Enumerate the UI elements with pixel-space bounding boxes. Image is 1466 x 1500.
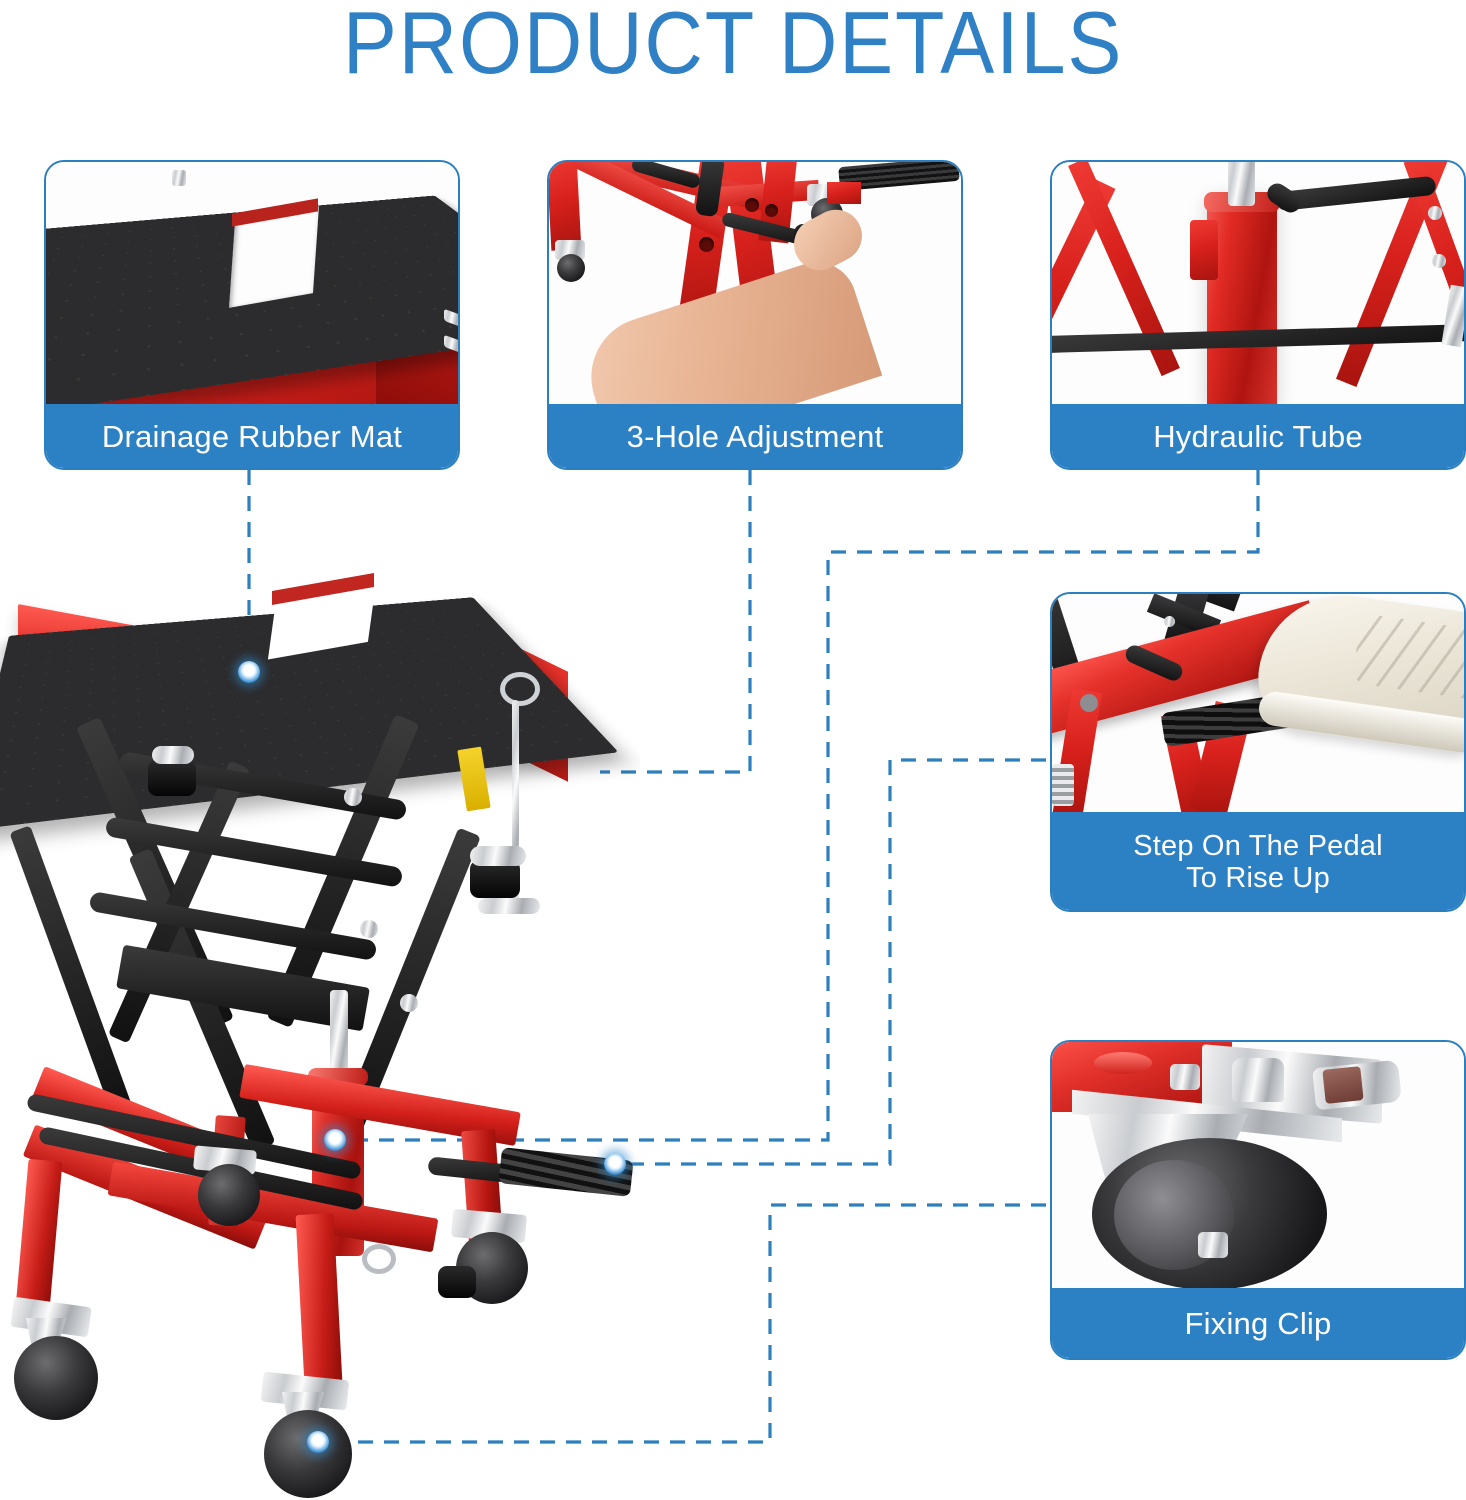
callout-label-drainage-rubber-mat: Drainage Rubber Mat	[44, 404, 460, 470]
callout-card-drainage-rubber-mat[interactable]: Drainage Rubber Mat	[44, 160, 460, 470]
caster-rear-left	[198, 1164, 260, 1226]
safety-pin-ring	[500, 672, 540, 706]
marker-dot-rubber-mat	[238, 661, 260, 683]
caster-bolt	[1170, 1064, 1200, 1090]
caster-front-right	[264, 1410, 352, 1498]
callout-card-step-on-the-pedal[interactable]: Step On The Pedal To Rise Up	[1050, 592, 1466, 912]
callout-photo-hydraulic-tube	[1052, 162, 1464, 412]
infographic-root: PRODUCT DETAILS	[0, 0, 1466, 1500]
hand	[576, 252, 882, 412]
page-title: PRODUCT DETAILS	[59, 0, 1408, 94]
caster-front-left	[14, 1336, 98, 1420]
callout-label-three-hole-adjustment: 3-Hole Adjustment	[547, 404, 963, 470]
callout-label-line2: To Rise Up	[1186, 862, 1330, 894]
callout-photo-three-hole-adjustment	[549, 162, 961, 412]
callout-label-fixing-clip: Fixing Clip	[1050, 1288, 1466, 1360]
adjust-hole-2	[745, 198, 759, 212]
base-locking-knob	[438, 1266, 476, 1298]
callout-label-hydraulic-tube: Hydraulic Tube	[1050, 404, 1466, 470]
marker-dot-fixing-clip	[307, 1431, 329, 1453]
marker-dot-hydraulic	[324, 1129, 346, 1151]
base-ring-pin	[362, 1244, 396, 1274]
callout-card-hydraulic-tube[interactable]: Hydraulic Tube	[1050, 160, 1466, 470]
callout-card-fixing-clip[interactable]: Fixing Clip	[1050, 1040, 1466, 1360]
marker-dot-pedal	[604, 1153, 626, 1175]
callout-photo-step-on-the-pedal	[1052, 594, 1464, 816]
callout-label-step-on-the-pedal: Step On The Pedal To Rise Up	[1050, 812, 1466, 912]
pivot-knob-left	[148, 760, 196, 796]
callout-photo-fixing-clip	[1052, 1042, 1464, 1290]
adjust-hole-3	[765, 204, 778, 217]
base-leg-front-left	[16, 1159, 63, 1311]
adjust-hole-1	[699, 237, 714, 252]
callout-photo-drainage-rubber-mat	[46, 162, 458, 412]
piston-rod	[1228, 162, 1255, 206]
callout-label-line1: Step On The Pedal	[1133, 830, 1383, 862]
callout-card-three-hole-adjustment[interactable]: 3-Hole Adjustment	[547, 160, 963, 470]
main-product-image	[0, 520, 640, 1500]
